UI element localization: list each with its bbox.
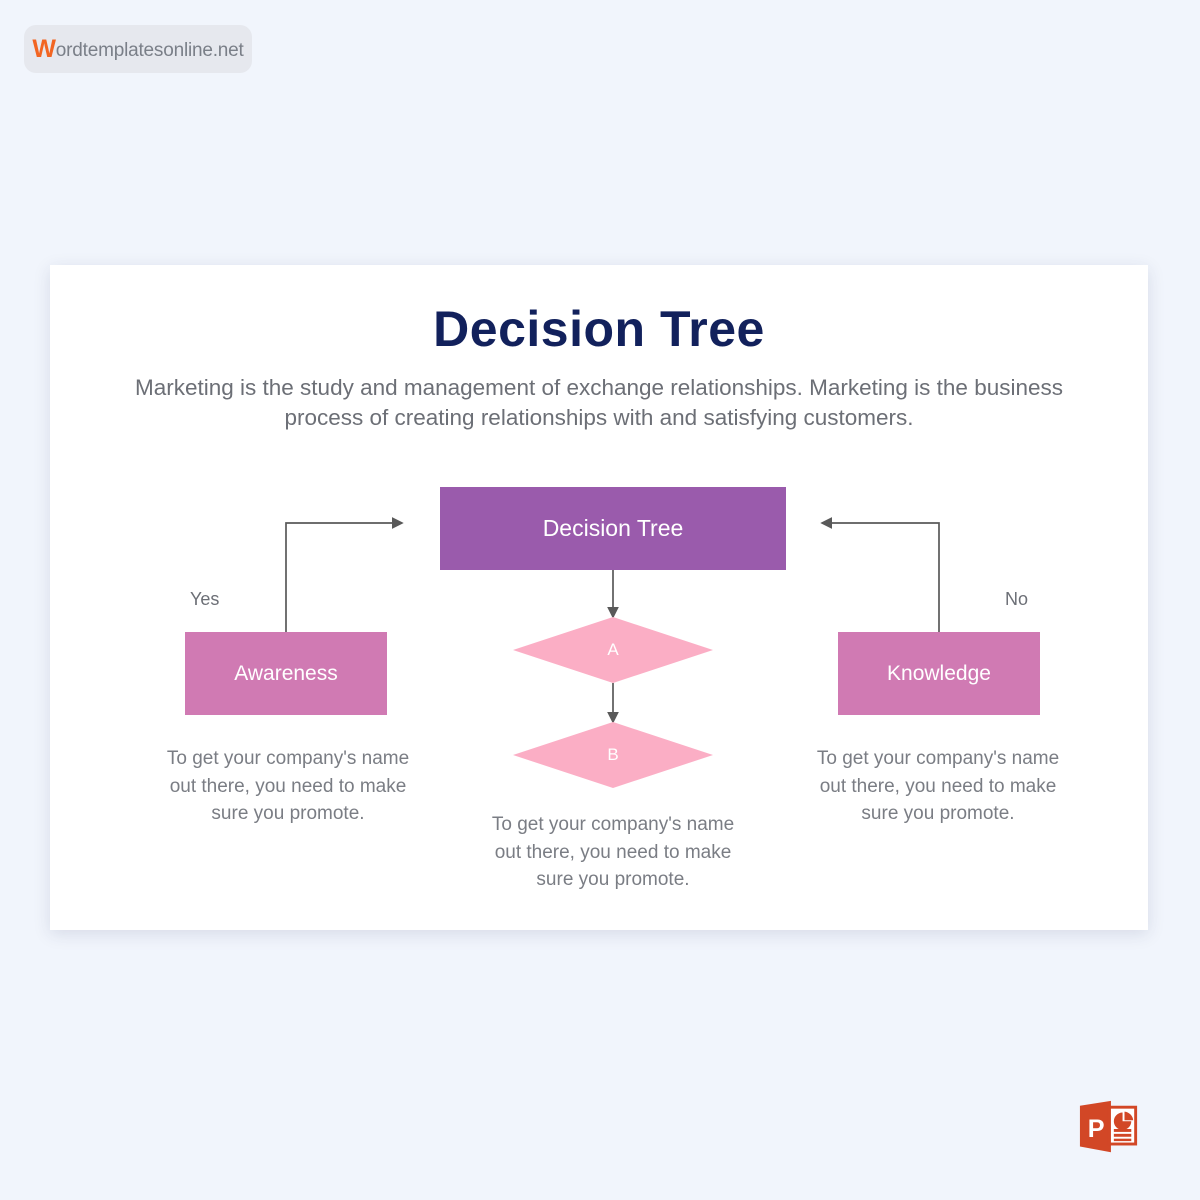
node-awareness[interactable]: Awareness bbox=[185, 632, 387, 715]
slide-subtitle: Marketing is the study and management of… bbox=[94, 373, 1104, 433]
page-title: Decision Tree bbox=[50, 300, 1148, 358]
edge-label-yes: Yes bbox=[190, 589, 219, 610]
caption-knowledge: To get your company's name out there, yo… bbox=[808, 745, 1068, 828]
caption-awareness: To get your company's name out there, yo… bbox=[158, 745, 418, 828]
connector-knowledge-to-root bbox=[822, 523, 939, 632]
node-decision-b[interactable]: B bbox=[513, 722, 713, 788]
slide-canvas: Decision Tree Marketing is the study and… bbox=[50, 265, 1148, 930]
caption-decision: To get your company's name out there, yo… bbox=[483, 811, 743, 894]
watermark-rest: ordtemplatesonline.net bbox=[56, 40, 244, 61]
powerpoint-icon: P bbox=[1078, 1098, 1140, 1160]
node-knowledge[interactable]: Knowledge bbox=[838, 632, 1040, 715]
node-awareness-label: Awareness bbox=[234, 662, 338, 686]
watermark-initial: W bbox=[32, 35, 55, 63]
watermark-chip: Wordtemplatesonline.net bbox=[24, 25, 252, 73]
node-decision-a-label: A bbox=[607, 640, 618, 660]
edge-label-no: No bbox=[1005, 589, 1028, 610]
connector-awareness-to-root bbox=[286, 523, 402, 632]
watermark-label: Wordtemplatesonline.net bbox=[32, 36, 243, 62]
svg-text:P: P bbox=[1088, 1115, 1105, 1143]
node-decision-tree[interactable]: Decision Tree bbox=[440, 487, 786, 570]
node-decision-tree-label: Decision Tree bbox=[543, 515, 684, 542]
node-decision-b-label: B bbox=[607, 745, 618, 765]
node-knowledge-label: Knowledge bbox=[887, 662, 991, 686]
node-decision-a[interactable]: A bbox=[513, 617, 713, 683]
